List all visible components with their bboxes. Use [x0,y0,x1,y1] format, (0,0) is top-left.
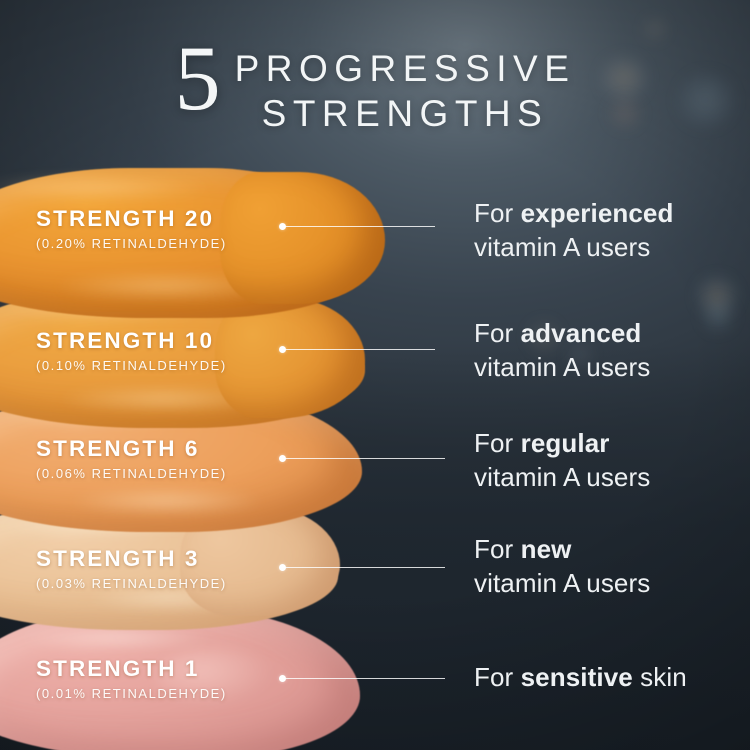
descriptor-prefix: For [474,428,521,458]
descriptor-prefix: For [474,318,521,348]
strength-label-concentration: (0.03% RETINALDEHYDE) [36,577,227,590]
swatch-gloss [72,488,262,514]
descriptor-line-1: For experienced [474,198,673,229]
strength-label-20: STRENGTH 20 (0.20% RETINALDEHYDE) [36,208,227,250]
poster-canvas: 5 PROGRESSIVE STRENGTHS STRENGTH 20 (0.2… [0,0,750,750]
strength-label-title: STRENGTH 20 [36,208,227,231]
connector-line-6 [279,453,445,463]
strength-label-title: STRENGTH 1 [36,658,227,681]
swatch-gloss [0,176,210,200]
descriptor-prefix: For [474,198,521,228]
descriptor-line-1: For new [474,534,650,565]
descriptor-suffix: skin [633,662,687,692]
strength-label-concentration: (0.06% RETINALDEHYDE) [36,467,227,480]
connector-line-1 [279,673,445,683]
strength-label-concentration: (0.10% RETINALDEHYDE) [36,359,227,372]
strength-label-concentration: (0.20% RETINALDEHYDE) [36,237,227,250]
strength-label-6: STRENGTH 6 (0.06% RETINALDEHYDE) [36,438,227,480]
title-text: PROGRESSIVE STRENGTHS [235,34,576,136]
strength-label-10: STRENGTH 10 (0.10% RETINALDEHYDE) [36,330,227,372]
connector-rule [285,349,435,350]
strength-label-title: STRENGTH 3 [36,548,227,571]
descriptor-line-1: For sensitive skin [474,662,687,693]
descriptor-3: For new vitamin A users [474,534,650,598]
connector-rule [285,567,445,568]
descriptor-line-2: vitamin A users [474,352,650,383]
descriptor-line-2: vitamin A users [474,232,673,263]
descriptor-6: For regular vitamin A users [474,428,650,492]
descriptor-line-2: vitamin A users [474,568,650,599]
descriptor-prefix: For [474,662,521,692]
poster-title: 5 PROGRESSIVE STRENGTHS [0,34,750,136]
descriptor-line-2: vitamin A users [474,462,650,493]
descriptor-line-1: For advanced [474,318,650,349]
descriptor-emphasis: sensitive [521,662,633,692]
descriptor-emphasis: regular [521,428,610,458]
connector-rule [285,226,435,227]
connector-line-20 [279,221,435,231]
descriptor-20: For experienced vitamin A users [474,198,673,262]
descriptor-emphasis: experienced [521,198,674,228]
connector-line-3 [279,562,445,572]
title-line-2: STRENGTHS [235,91,576,136]
strength-label-title: STRENGTH 6 [36,438,227,461]
descriptor-line-1: For regular [474,428,650,459]
descriptor-prefix: For [474,534,521,564]
strength-label-title: STRENGTH 10 [36,330,227,353]
strength-label-3: STRENGTH 3 (0.03% RETINALDEHYDE) [36,548,227,590]
connector-rule [285,458,445,459]
descriptor-emphasis: advanced [521,318,642,348]
connector-line-10 [279,344,435,354]
cream-swatch-strength-20-extension [220,172,385,304]
descriptor-emphasis: new [521,534,572,564]
title-line-1: PROGRESSIVE [235,46,576,91]
descriptor-10: For advanced vitamin A users [474,318,650,382]
strength-label-1: STRENGTH 1 (0.01% RETINALDEHYDE) [36,658,227,700]
strength-label-concentration: (0.01% RETINALDEHYDE) [36,687,227,700]
title-numeral: 5 [175,36,221,121]
descriptor-1: For sensitive skin [474,662,687,693]
connector-rule [285,678,445,679]
